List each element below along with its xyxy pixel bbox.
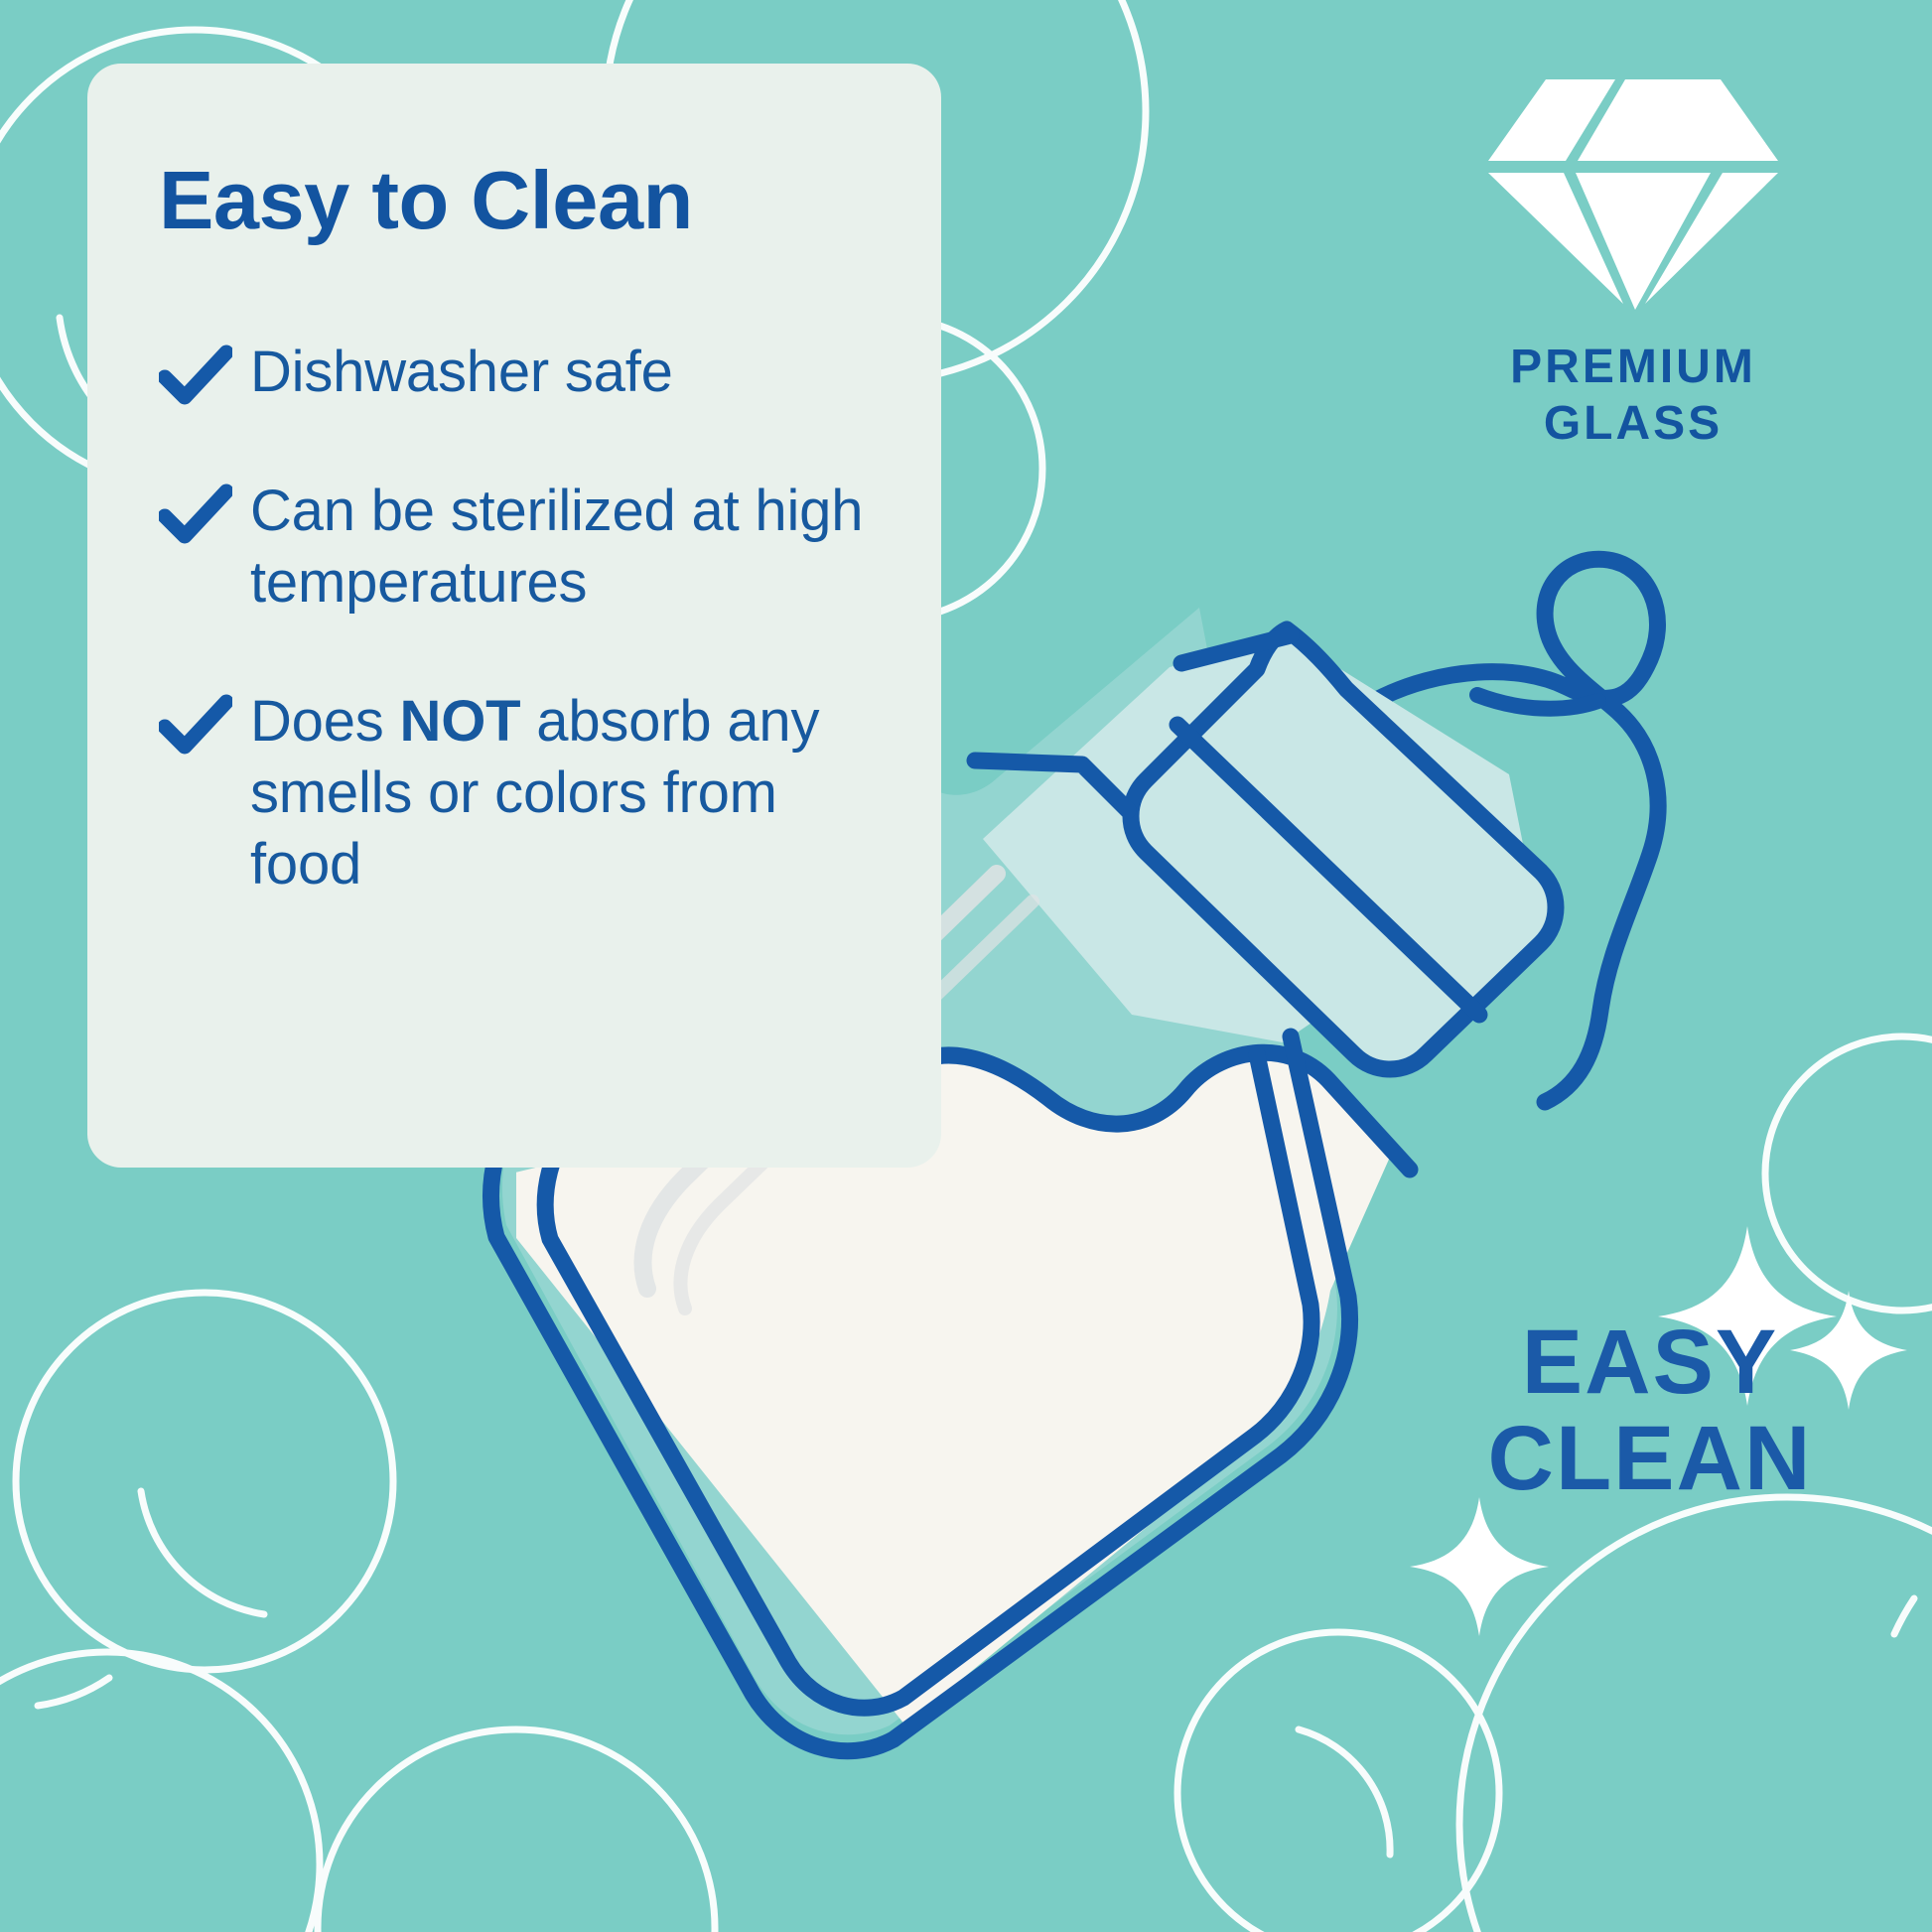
- easy-clean-stamp: EASY CLEAN: [1442, 1316, 1859, 1510]
- feature-text: Does NOT absorb any smells or colors fro…: [250, 686, 870, 900]
- poster-canvas: Easy to Clean Dishwasher safe Can be ste…: [0, 0, 1932, 1932]
- easy-clean-line-2: CLEAN: [1442, 1408, 1859, 1510]
- premium-glass-label: PREMIUM GLASS: [1445, 340, 1822, 452]
- check-icon: [159, 483, 232, 545]
- feature-card: Easy to Clean Dishwasher safe Can be ste…: [87, 64, 941, 1168]
- page-title: Easy to Clean: [159, 159, 870, 241]
- diamond-icon: [1484, 69, 1782, 318]
- easy-clean-line-1: EASY: [1442, 1316, 1859, 1408]
- check-icon: [159, 694, 232, 756]
- feature-text: Can be sterilized at high temperatures: [250, 476, 870, 619]
- premium-glass-badge: PREMIUM GLASS: [1445, 69, 1822, 452]
- feature-text-emphasis: NOT: [400, 689, 521, 754]
- check-icon: [159, 345, 232, 406]
- list-item: Can be sterilized at high temperatures: [159, 476, 870, 619]
- list-item: Does NOT absorb any smells or colors fro…: [159, 686, 870, 900]
- feature-text: Dishwasher safe: [250, 337, 673, 408]
- feature-text-before: Does: [250, 689, 400, 754]
- list-item: Dishwasher safe: [159, 337, 870, 408]
